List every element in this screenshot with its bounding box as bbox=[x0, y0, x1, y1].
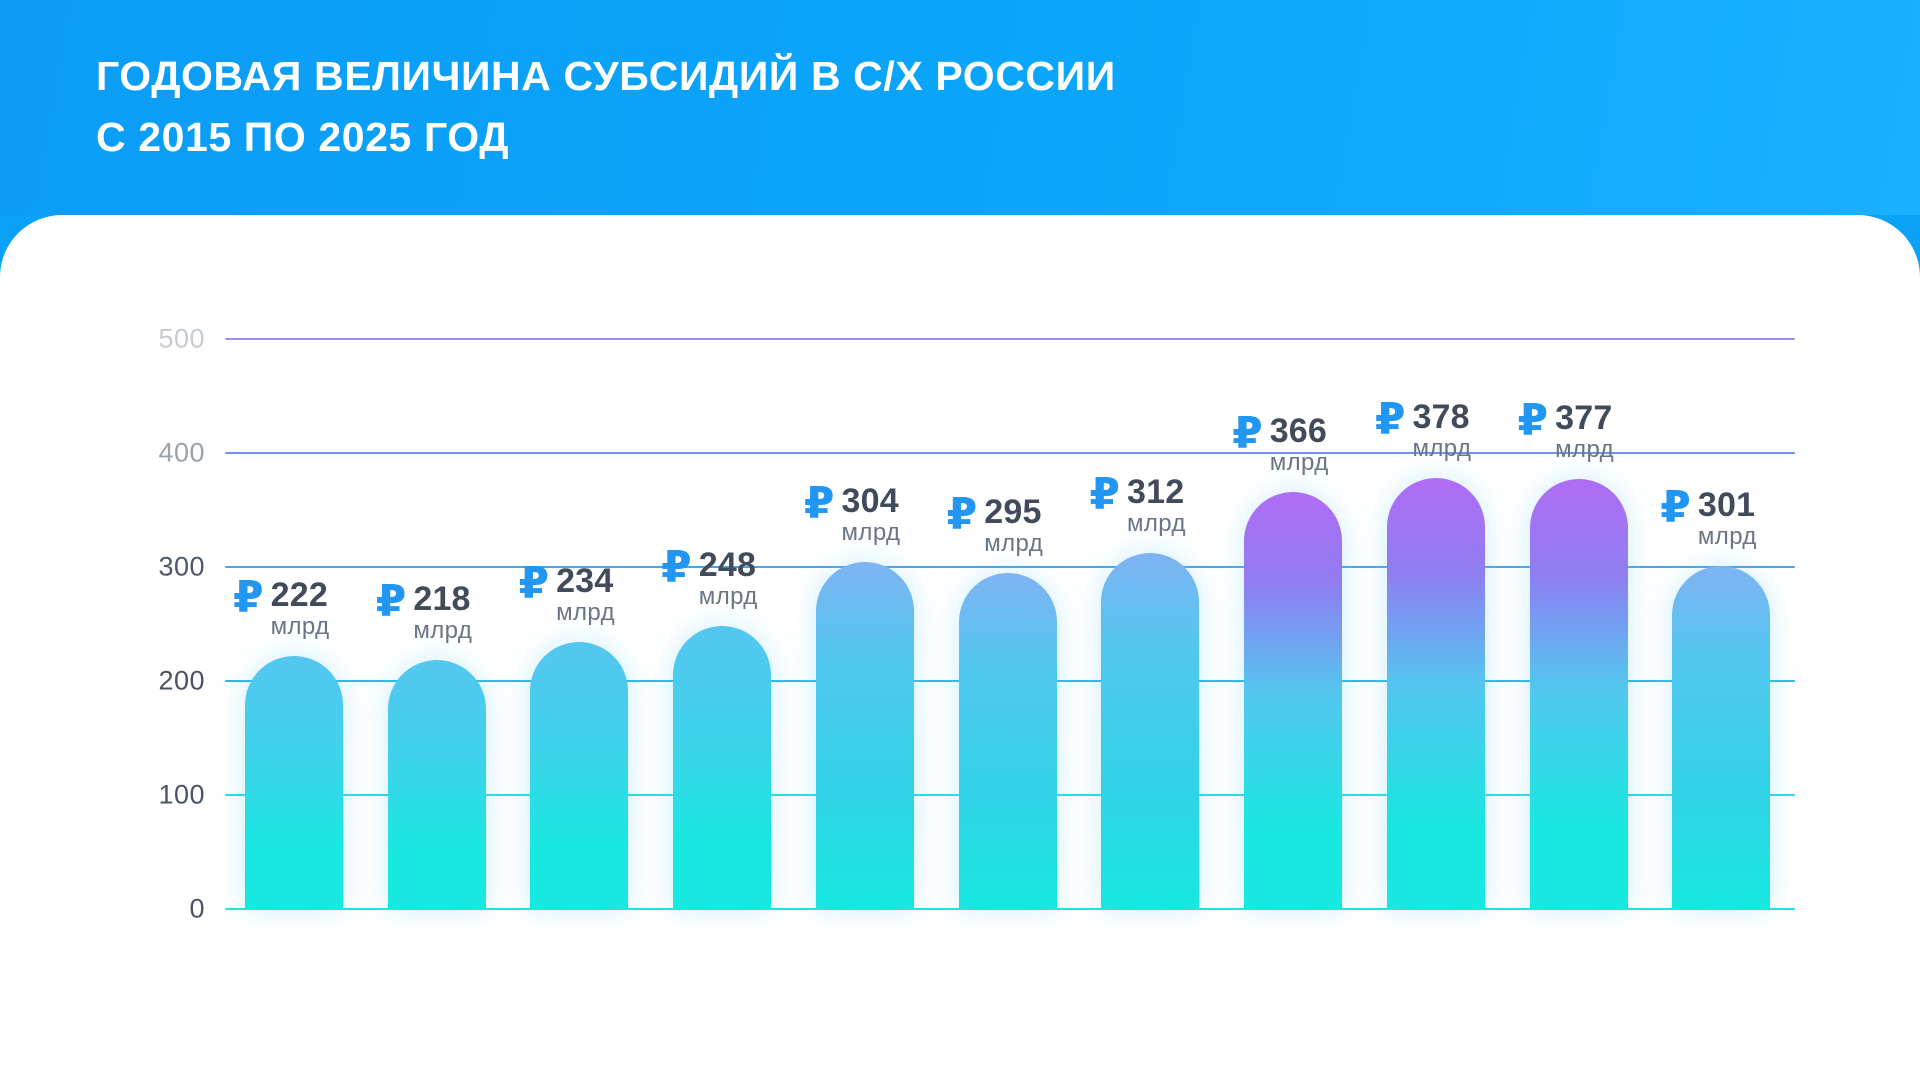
bar-label-2022: ₽366млрд bbox=[1232, 414, 1329, 475]
ruble-icon: ₽ bbox=[804, 484, 835, 524]
bars-group bbox=[225, 215, 1795, 909]
ruble-icon: ₽ bbox=[233, 578, 264, 618]
y-axis-tick-0: 0 bbox=[100, 894, 205, 925]
bar-label-2016: ₽218млрд bbox=[376, 582, 473, 643]
bar-label-2019: ₽304млрд bbox=[804, 484, 901, 545]
bar-value: 301 bbox=[1698, 488, 1757, 522]
bar-value: 218 bbox=[413, 582, 472, 616]
chart-card: 0100200300400500 ₽222млрд₽218млрд₽234млр… bbox=[0, 215, 1920, 1080]
bar-slot bbox=[1081, 215, 1219, 909]
bar-label-text: 378млрд bbox=[1412, 400, 1471, 461]
bar-label-text: 304млрд bbox=[842, 484, 901, 545]
bar-value: 304 bbox=[842, 484, 901, 518]
bar-value: 377 bbox=[1555, 401, 1614, 435]
bar-value-unit: млрд bbox=[984, 532, 1043, 556]
bar-label-text: 222млрд bbox=[271, 578, 330, 639]
bar-label-text: 218млрд bbox=[413, 582, 472, 643]
bar-label-text: 248млрд bbox=[699, 548, 758, 609]
y-axis-tick-400: 400 bbox=[100, 438, 205, 469]
ruble-icon: ₽ bbox=[1375, 400, 1406, 440]
bar-label-text: 366млрд bbox=[1270, 414, 1329, 475]
bar-slot bbox=[1367, 215, 1505, 909]
bar-2024[interactable] bbox=[1530, 479, 1628, 909]
bar-label-text: 295млрд bbox=[984, 495, 1043, 556]
bar-2019[interactable] bbox=[816, 562, 914, 909]
bar-label-2015: ₽222млрд bbox=[233, 578, 330, 639]
page-title: ГОДОВАЯ ВЕЛИЧИНА СУБСИДИЙ В С/Х РОССИИ С… bbox=[96, 46, 1116, 167]
bar-2017[interactable] bbox=[530, 642, 628, 909]
y-axis-tick-200: 200 bbox=[100, 666, 205, 697]
ruble-icon: ₽ bbox=[376, 582, 407, 622]
ruble-icon: ₽ bbox=[1518, 401, 1549, 441]
bar-value: 248 bbox=[699, 548, 758, 582]
bar-value-unit: млрд bbox=[556, 601, 615, 625]
bar-value-unit: млрд bbox=[842, 521, 901, 545]
bar-2020[interactable] bbox=[959, 573, 1057, 909]
bar-label-text: 301млрд bbox=[1698, 488, 1757, 549]
ruble-icon: ₽ bbox=[947, 495, 978, 535]
bar-value: 234 bbox=[556, 564, 615, 598]
bar-2025[interactable] bbox=[1672, 566, 1770, 909]
bar-value: 222 bbox=[271, 578, 330, 612]
bar-value-unit: млрд bbox=[1127, 512, 1186, 536]
bar-value: 312 bbox=[1127, 475, 1186, 509]
bar-value-unit: млрд bbox=[1698, 525, 1757, 549]
ruble-icon: ₽ bbox=[1089, 475, 1120, 515]
bar-slot bbox=[368, 215, 506, 909]
bar-label-text: 377млрд bbox=[1555, 401, 1614, 462]
bar-slot bbox=[225, 215, 363, 909]
bar-2022[interactable] bbox=[1244, 492, 1342, 909]
bar-label-2025: ₽301млрд bbox=[1660, 488, 1757, 549]
bar-value-unit: млрд bbox=[1412, 437, 1471, 461]
bar-slot bbox=[1510, 215, 1648, 909]
bar-label-text: 312млрд bbox=[1127, 475, 1186, 536]
bar-slot bbox=[1652, 215, 1790, 909]
bar-value-unit: млрд bbox=[1270, 451, 1329, 475]
bar-value: 366 bbox=[1270, 414, 1329, 448]
bar-slot bbox=[796, 215, 934, 909]
bar-value-unit: млрд bbox=[413, 619, 472, 643]
bar-label-2020: ₽295млрд bbox=[947, 495, 1044, 556]
bar-label-2021: ₽312млрд bbox=[1089, 475, 1186, 536]
bar-label-2023: ₽378млрд bbox=[1375, 400, 1472, 461]
y-axis-tick-100: 100 bbox=[100, 780, 205, 811]
bar-slot bbox=[939, 215, 1077, 909]
ruble-icon: ₽ bbox=[1660, 488, 1691, 528]
bar-chart: 0100200300400500 ₽222млрд₽218млрд₽234млр… bbox=[0, 215, 1920, 1080]
bar-label-text: 234млрд bbox=[556, 564, 615, 625]
bar-value: 378 bbox=[1412, 400, 1471, 434]
ruble-icon: ₽ bbox=[1232, 414, 1263, 454]
bar-2016[interactable] bbox=[388, 660, 486, 909]
bar-value-unit: млрд bbox=[1555, 438, 1614, 462]
bar-2023[interactable] bbox=[1387, 478, 1485, 909]
bar-value-unit: млрд bbox=[271, 615, 330, 639]
y-axis-tick-300: 300 bbox=[100, 552, 205, 583]
header-banner: ГОДОВАЯ ВЕЛИЧИНА СУБСИДИЙ В С/Х РОССИИ С… bbox=[0, 0, 1920, 215]
bar-label-2017: ₽234млрд bbox=[518, 564, 615, 625]
bar-slot bbox=[1224, 215, 1362, 909]
bar-label-2024: ₽377млрд bbox=[1518, 401, 1615, 462]
bar-2018[interactable] bbox=[673, 626, 771, 909]
bar-2015[interactable] bbox=[245, 656, 343, 909]
bar-value-unit: млрд bbox=[699, 585, 758, 609]
ruble-icon: ₽ bbox=[661, 548, 692, 588]
bar-label-2018: ₽248млрд bbox=[661, 548, 758, 609]
y-axis-tick-500: 500 bbox=[100, 324, 205, 355]
bar-2021[interactable] bbox=[1101, 553, 1199, 909]
ruble-icon: ₽ bbox=[518, 564, 549, 604]
bar-value: 295 bbox=[984, 495, 1043, 529]
